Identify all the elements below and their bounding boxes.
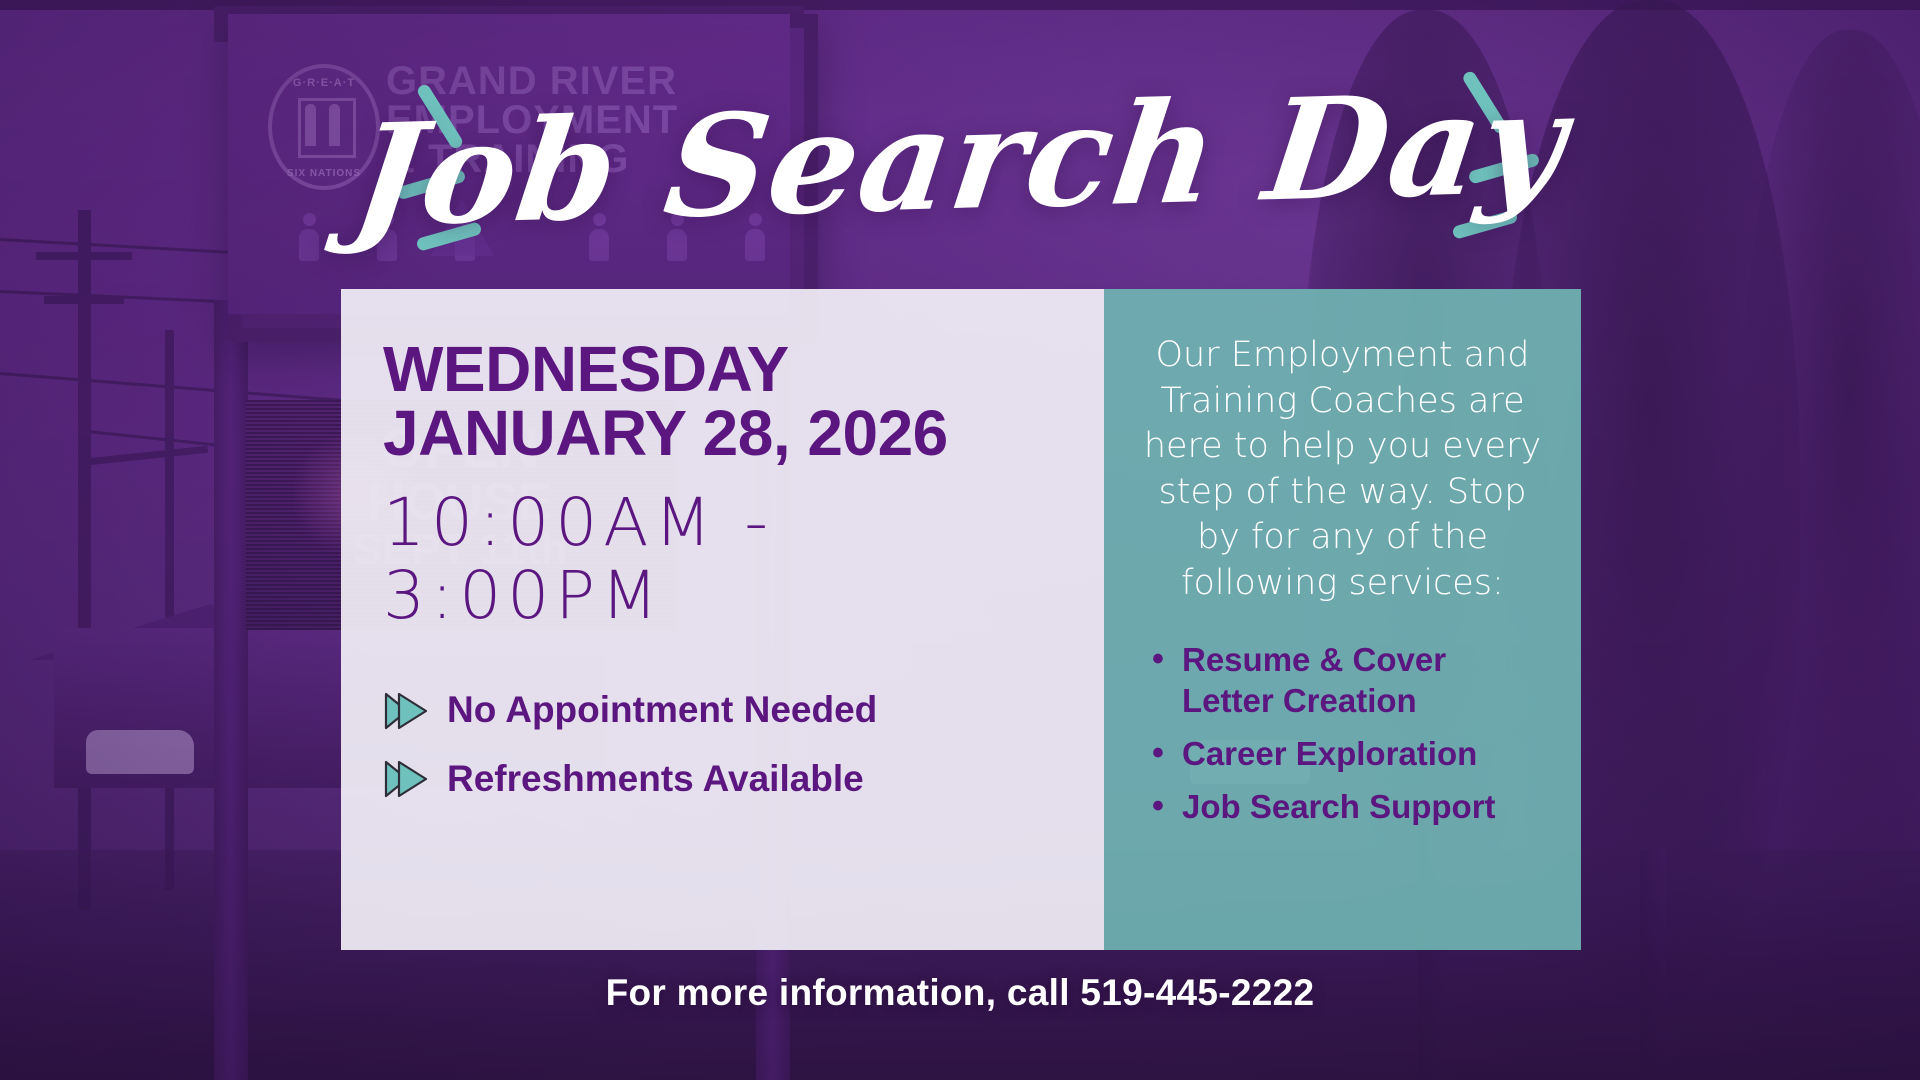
services-blurb: Our Employment and Training Coaches are … xyxy=(1140,333,1545,606)
content-panels: WEDNESDAY JANUARY 28, 2026 10:00AM - 3:0… xyxy=(341,289,1581,950)
list-item: Career Exploration xyxy=(1146,734,1545,775)
feature-label: No Appointment Needed xyxy=(447,690,877,731)
arrow-right-icon xyxy=(383,691,429,731)
event-date: WEDNESDAY JANUARY 28, 2026 xyxy=(383,337,1064,465)
arrow-right-icon xyxy=(383,759,429,799)
details-panel: WEDNESDAY JANUARY 28, 2026 10:00AM - 3:0… xyxy=(341,289,1104,950)
event-day: WEDNESDAY xyxy=(383,333,789,405)
services-list: Resume & Cover Letter Creation Career Ex… xyxy=(1146,640,1545,828)
feature-label: Refreshments Available xyxy=(447,759,864,800)
contact-footer: For more information, call 519-445-2222 xyxy=(0,972,1920,1014)
list-item: No Appointment Needed xyxy=(383,690,1064,731)
list-item: Job Search Support xyxy=(1146,787,1545,828)
list-item: Resume & Cover Letter Creation xyxy=(1146,640,1545,722)
services-panel: Our Employment and Training Coaches are … xyxy=(1104,289,1581,950)
poster: G·R·E·A·T SIX NATIONS GRAND RIVER EMPLOY… xyxy=(0,0,1920,1080)
list-item: Refreshments Available xyxy=(383,759,1064,800)
event-date-text: JANUARY 28, 2026 xyxy=(383,401,1064,465)
feature-list: No Appointment Needed Refreshments Avail… xyxy=(383,690,1064,799)
event-time: 10:00AM - 3:00PM xyxy=(383,487,1064,632)
